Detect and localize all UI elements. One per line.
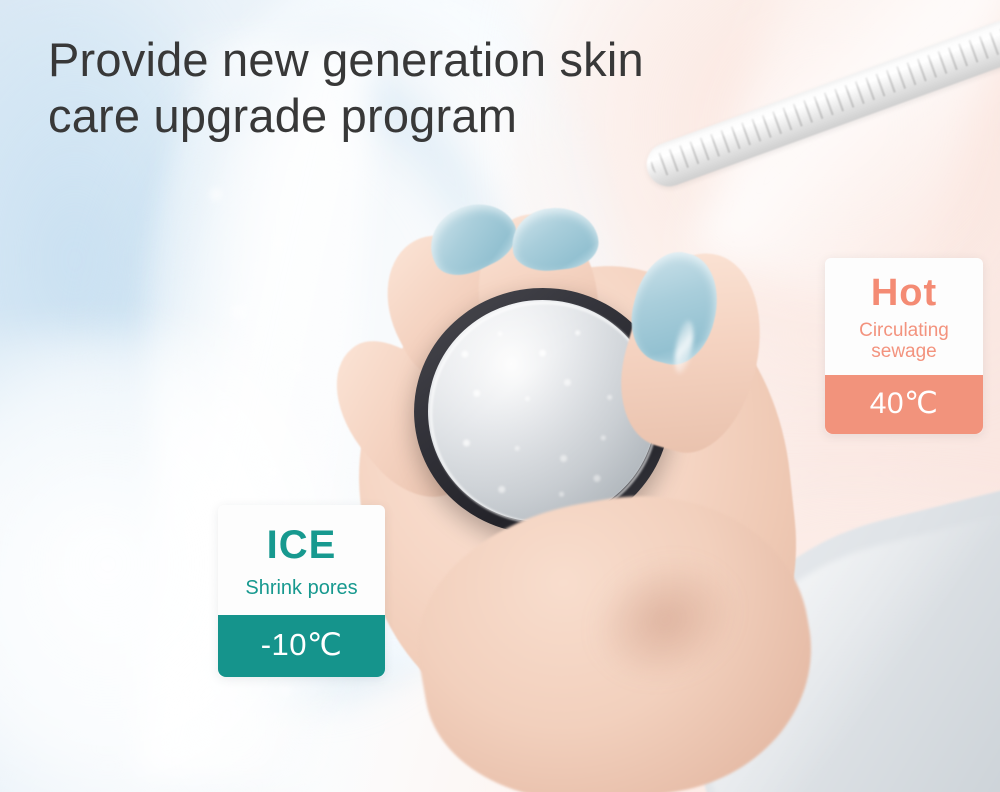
hot-card-temperature: 40℃ bbox=[825, 375, 983, 434]
ice-mode-card[interactable]: ICE Shrink pores -10℃ bbox=[218, 505, 385, 677]
ice-card-temperature: -10℃ bbox=[218, 615, 385, 677]
hot-mode-card[interactable]: Hot Circulating sewage 40℃ bbox=[825, 258, 983, 434]
page-title: Provide new generation skin care upgrade… bbox=[48, 32, 888, 144]
promo-banner: Provide new generation skin care upgrade… bbox=[0, 0, 1000, 792]
ice-card-title: ICE bbox=[226, 525, 377, 565]
hot-card-subtitle: Circulating sewage bbox=[833, 320, 975, 363]
ice-card-subtitle: Shrink pores bbox=[226, 577, 377, 599]
ice-card-body: ICE Shrink pores bbox=[218, 505, 385, 615]
hot-card-body: Hot Circulating sewage bbox=[825, 258, 983, 375]
hot-card-title: Hot bbox=[833, 274, 975, 312]
